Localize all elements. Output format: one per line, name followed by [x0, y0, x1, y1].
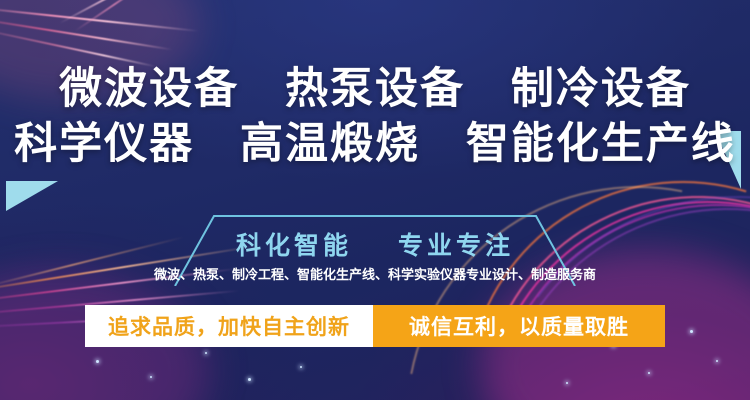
headline-word-heatpump: 热泵设备	[285, 65, 465, 113]
sparkle-icon	[690, 330, 693, 333]
headline-word-microwave: 微波设备	[59, 65, 239, 113]
headline-word-production-line: 智能化生产线	[466, 120, 736, 168]
headline-word-calcination: 高温煅烧	[240, 120, 420, 168]
sparkle-icon	[150, 376, 152, 378]
sub-slogan: 科化智能 专业专注	[0, 226, 750, 262]
page-title: 微波设备 热泵设备 制冷设备 科学仪器 高温煅烧 智能化生产线	[0, 62, 750, 172]
sub-slogan-left: 科化智能	[236, 232, 352, 260]
promo-banner: 微波设备 热泵设备 制冷设备 科学仪器 高温煅烧 智能化生产线 科化智能 专业专…	[0, 0, 750, 400]
slogan-bar-quality: 追求品质，加快自主创新	[85, 305, 373, 347]
slogan-bar-group: 追求品质，加快自主创新 诚信互利，以质量取胜	[85, 305, 665, 347]
sparkle-icon	[205, 352, 207, 354]
headline-line-1: 微波设备 热泵设备 制冷设备	[0, 62, 750, 117]
headline-word-refrigeration: 制冷设备	[511, 65, 691, 113]
triangle-right-icon	[6, 181, 58, 211]
sparkle-icon	[248, 378, 251, 381]
sparkle-icon	[300, 366, 302, 368]
slogan-bar-integrity: 诚信互利，以质量取胜	[373, 305, 665, 347]
sparkle-icon	[648, 372, 650, 374]
light-streak-icon	[74, 0, 154, 32]
business-descriptor: 微波、热泵、制冷工程、智能化生产线、科学实验仪器专业设计、制造服务商	[0, 264, 750, 283]
light-streak-icon	[60, 0, 167, 24]
light-streak-icon	[0, 6, 199, 32]
headline-line-2: 科学仪器 高温煅烧 智能化生产线	[0, 117, 750, 172]
sub-slogan-right: 专业专注	[398, 232, 514, 260]
sparkle-icon	[566, 382, 568, 384]
headline-word-instruments: 科学仪器	[14, 120, 194, 168]
sparkle-icon	[716, 360, 718, 362]
light-streak-icon	[0, 15, 173, 51]
sparkle-icon	[96, 360, 99, 363]
